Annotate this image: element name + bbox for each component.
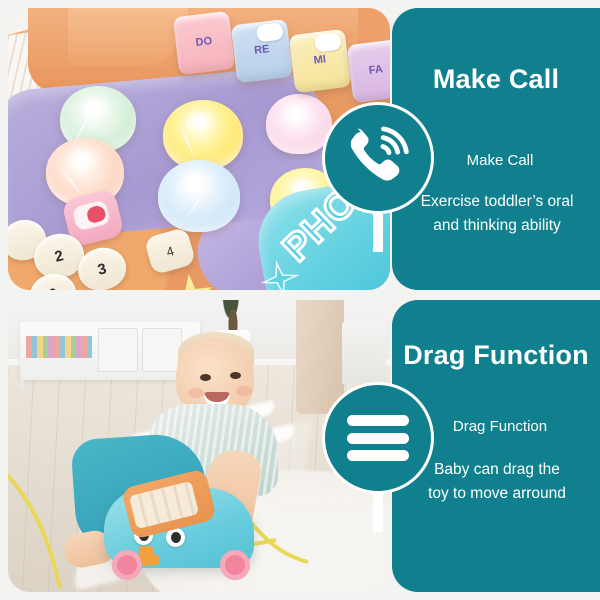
baby-cheek-right bbox=[236, 386, 252, 396]
baby-eye-right bbox=[230, 372, 241, 379]
piano-key-sticker-1 bbox=[256, 22, 284, 42]
console-door-left bbox=[98, 328, 138, 372]
make-call-title: Make Call bbox=[392, 64, 600, 95]
piano-key-sticker-2 bbox=[314, 32, 342, 52]
drag-handle-bar-2 bbox=[347, 433, 409, 444]
number-key-3-label: 3 bbox=[96, 260, 108, 279]
make-call-description: Exercise toddler’s oral and thinking abi… bbox=[398, 190, 596, 238]
console-door-right bbox=[142, 328, 182, 372]
piano-key-re-label: RE bbox=[254, 43, 271, 57]
console-legs bbox=[20, 380, 200, 390]
light-dome-blue bbox=[158, 160, 240, 232]
feature-row-drag-function: Drag Function Drag Function Baby can dra… bbox=[0, 300, 600, 592]
piano-key-do: DO bbox=[173, 11, 236, 75]
row-divider bbox=[0, 290, 600, 300]
drag-handle-icon bbox=[347, 415, 409, 461]
baby-cheek-left bbox=[188, 388, 204, 398]
drag-handle-bar-3 bbox=[347, 450, 409, 461]
drag-function-title: Drag Function bbox=[392, 340, 600, 371]
make-call-subtitle: Make Call bbox=[408, 152, 592, 169]
light-dome-pink bbox=[266, 94, 332, 154]
piano-key-re: RE bbox=[231, 19, 294, 83]
make-call-description-line-1: Exercise toddler’s oral bbox=[398, 190, 596, 214]
books-on-shelf bbox=[26, 336, 92, 358]
feature-row-make-call: DO RE MI FA 2 bbox=[0, 8, 600, 290]
number-key-4-label: 4 bbox=[164, 243, 175, 259]
piano-key-mi-label: MI bbox=[313, 53, 327, 66]
drag-function-subtitle: Drag Function bbox=[408, 418, 592, 435]
toy-wheel-front bbox=[112, 550, 142, 580]
side-shelf bbox=[342, 322, 386, 384]
drag-function-description-line-2: toy to move arround bbox=[398, 482, 596, 506]
curtain bbox=[296, 300, 344, 414]
piano-key-fa: FA bbox=[347, 39, 390, 103]
make-call-badge bbox=[322, 102, 434, 214]
make-call-badge-stem bbox=[373, 212, 383, 252]
drag-function-description: Baby can drag the toy to move arround bbox=[398, 458, 596, 506]
drag-function-badge-stem bbox=[373, 492, 383, 532]
make-call-description-line-2: and thinking ability bbox=[398, 214, 596, 238]
piano-key-fa-label: FA bbox=[368, 63, 383, 77]
plant-foliage bbox=[222, 300, 244, 334]
phone-call-icon bbox=[343, 123, 413, 193]
number-key-2-label: 2 bbox=[53, 247, 65, 266]
toy-wheel-rear bbox=[220, 550, 250, 580]
drag-handle-bar-1 bbox=[347, 415, 409, 426]
heart-face-icon bbox=[71, 198, 112, 232]
page-root: DO RE MI FA 2 bbox=[0, 0, 600, 600]
piano-key-do-label: DO bbox=[195, 35, 213, 49]
baby-eye-left bbox=[200, 374, 211, 381]
piano-key-mi: MI bbox=[289, 29, 352, 93]
drag-function-badge bbox=[322, 382, 434, 494]
toy-eye-right bbox=[166, 528, 185, 547]
